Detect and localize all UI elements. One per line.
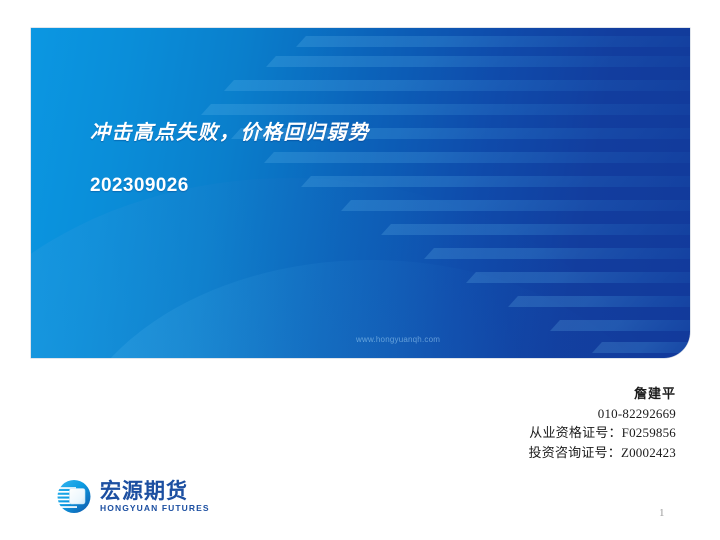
slide-canvas: www.hongyuanqh.com 冲击高点失败，价格回归弱势 2023090… [0,0,720,540]
website-watermark: www.hongyuanqh.com [356,335,440,344]
author-phone: 010-82292669 [529,404,676,424]
banner-stripe [592,342,690,353]
banner-stripe [301,176,690,187]
hongyuan-circle-mark-icon [54,477,94,516]
banner-stripe [266,56,690,67]
page-number: 1 [659,507,665,519]
logo-wordmark: 宏源期货 HONGYUAN FUTURES [100,480,210,514]
practice-license-number: 从业资格证号：F0259856 [529,423,676,443]
banner-stripe [466,272,690,283]
banner-stripe [224,80,690,91]
banner-stripe [381,224,690,235]
contact-block: 詹建平 010-82292669 从业资格证号：F0259856 投资咨询证号：… [529,384,676,462]
banner-stripe [296,36,690,47]
advisory-license-number: 投资咨询证号：Z0002423 [529,443,676,463]
banner-stripe [201,104,690,115]
logo-name-cn: 宏源期货 [100,480,210,503]
slide-title: 冲击高点失败，价格回归弱势 [90,116,370,145]
banner-stripe [341,200,690,211]
logo-name-en: HONGYUAN FUTURES [100,503,210,514]
title-banner: www.hongyuanqh.com 冲击高点失败，价格回归弱势 2023090… [31,28,690,358]
banner-stripe [264,152,690,163]
slide-date-code: 202309026 [90,175,189,197]
company-logo: 宏源期货 HONGYUAN FUTURES [54,477,210,516]
banner-stripe [424,248,690,259]
banner-stripe [550,320,690,331]
author-name: 詹建平 [529,384,676,404]
banner-stripe [508,296,690,307]
